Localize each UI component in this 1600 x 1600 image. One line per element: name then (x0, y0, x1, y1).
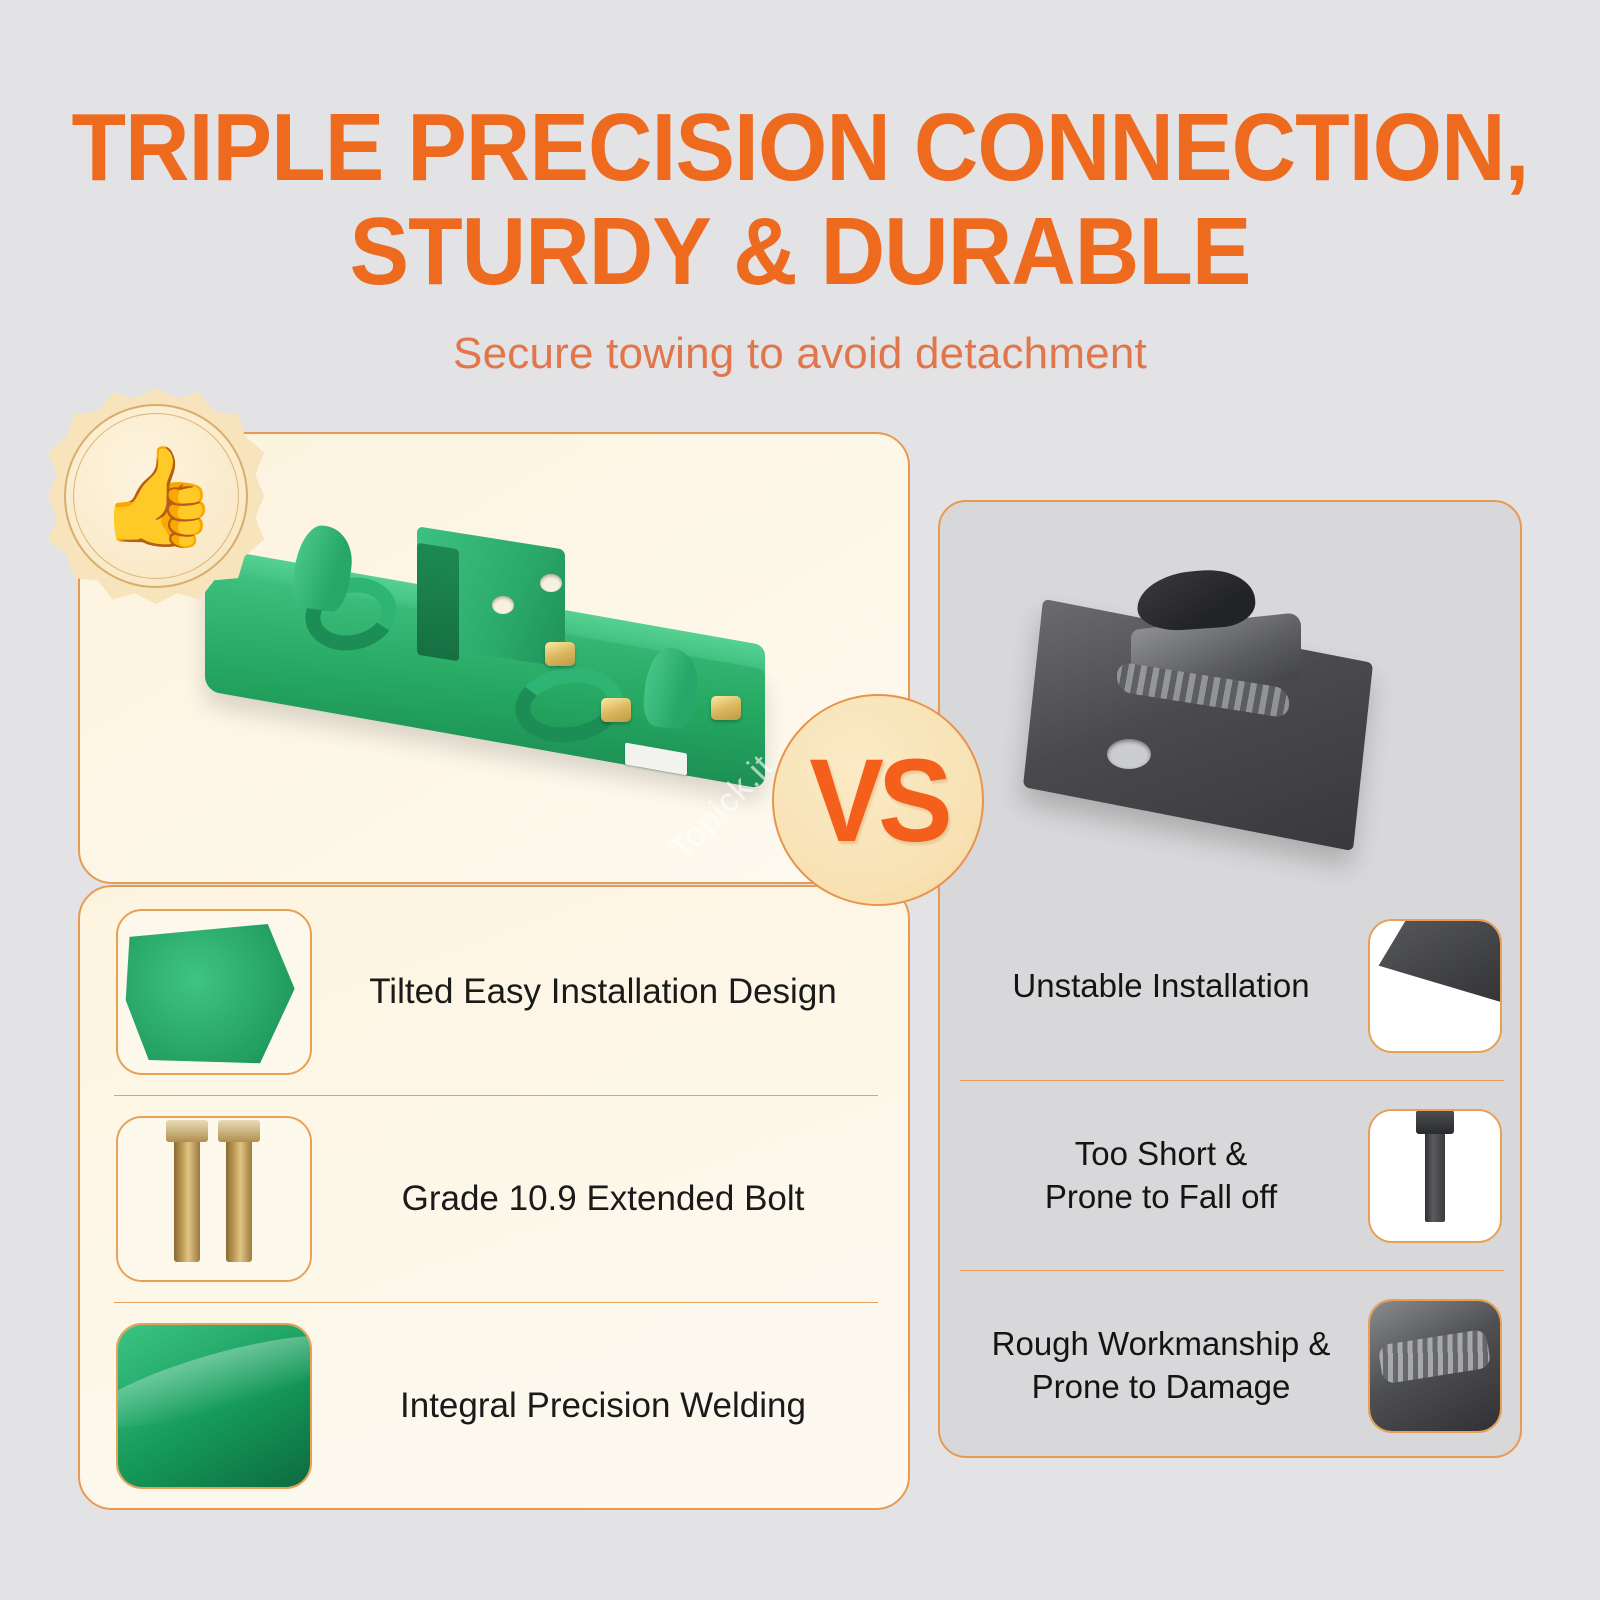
bronze-bolts-art (118, 1118, 310, 1280)
green-tow-hook-bracket-image (195, 500, 815, 850)
page-title-line-1: TRIPLE PRECISION CONNECTION, (56, 96, 1544, 200)
header: TRIPLE PRECISION CONNECTION, STURDY & DU… (0, 0, 1600, 379)
right-row-divider-2 (960, 1270, 1504, 1271)
vs-label: VS (809, 732, 946, 867)
left-feature-label-1: Tilted Easy Installation Design (312, 972, 910, 1012)
tube-pin-hole-2 (540, 574, 562, 592)
vs-badge: VS (772, 694, 984, 906)
left-feature-row-2: Grade 10.9 Extended Bolt (80, 1096, 910, 1302)
right-feature-row-2: Too Short & Prone to Fall off (940, 1082, 1522, 1270)
green-bracket-angle-thumb (116, 909, 312, 1075)
two-long-bronze-bolts-thumb (116, 1116, 312, 1282)
dark-bolt-shape (1425, 1130, 1445, 1222)
hex-bolt-1 (545, 642, 575, 666)
rough-weld-closeup-thumb (1368, 1299, 1502, 1433)
left-feature-label-3: Integral Precision Welding (312, 1386, 910, 1426)
page-title-line-2: STURDY & DURABLE (56, 200, 1544, 304)
short-bolt-art (1370, 1111, 1500, 1241)
green-bracket-angle-art (118, 911, 310, 1073)
rough-weld-art (1370, 1301, 1500, 1431)
gray-plate-corner-thumb (1368, 919, 1502, 1053)
green-weld-art (118, 1325, 310, 1487)
right-feature-label-2-line-2: Prone to Fall off (954, 1176, 1368, 1219)
right-feature-row-1: Unstable Installation (940, 892, 1522, 1080)
gray-cast-tow-plate-image (995, 525, 1425, 875)
left-feature-label-2: Grade 10.9 Extended Bolt (312, 1179, 910, 1219)
right-feature-label-1: Unstable Installation (940, 965, 1368, 1008)
hex-bolt-2 (601, 698, 631, 722)
right-feature-label-2: Too Short & Prone to Fall off (940, 1133, 1368, 1219)
gray-plate-corner-art (1370, 921, 1500, 1051)
left-features-panel: Tilted Easy Installation Design Grade 10… (78, 885, 910, 1510)
hex-bolt-3 (711, 696, 741, 720)
short-dark-bolt-thumb (1368, 1109, 1502, 1243)
right-feature-label-3-line-2: Prone to Damage (954, 1366, 1368, 1409)
green-weld-closeup-thumb (116, 1323, 312, 1489)
bronze-bolt-2 (226, 1136, 252, 1262)
right-feature-label-3-line-1: Rough Workmanship & (954, 1323, 1368, 1366)
thumbs-up-icon: 👍 (48, 388, 264, 604)
bronze-bolt-1 (174, 1136, 200, 1262)
welded-hook-top (1135, 567, 1257, 633)
left-feature-row-1: Tilted Easy Installation Design (80, 889, 910, 1095)
right-feature-label-2-line-1: Too Short & (954, 1133, 1368, 1176)
quality-badge: 👍 (48, 388, 264, 604)
receiver-tube-opening (417, 543, 459, 662)
right-feature-row-3: Rough Workmanship & Prone to Damage (940, 1272, 1522, 1458)
plate-bolt-hole-1 (1107, 739, 1151, 769)
left-feature-row-3: Integral Precision Welding (80, 1303, 910, 1509)
page-subtitle: Secure towing to avoid detachment (0, 329, 1600, 379)
right-feature-label-3: Rough Workmanship & Prone to Damage (940, 1323, 1368, 1409)
tube-pin-hole-1 (492, 596, 514, 614)
right-row-divider-1 (960, 1080, 1504, 1081)
